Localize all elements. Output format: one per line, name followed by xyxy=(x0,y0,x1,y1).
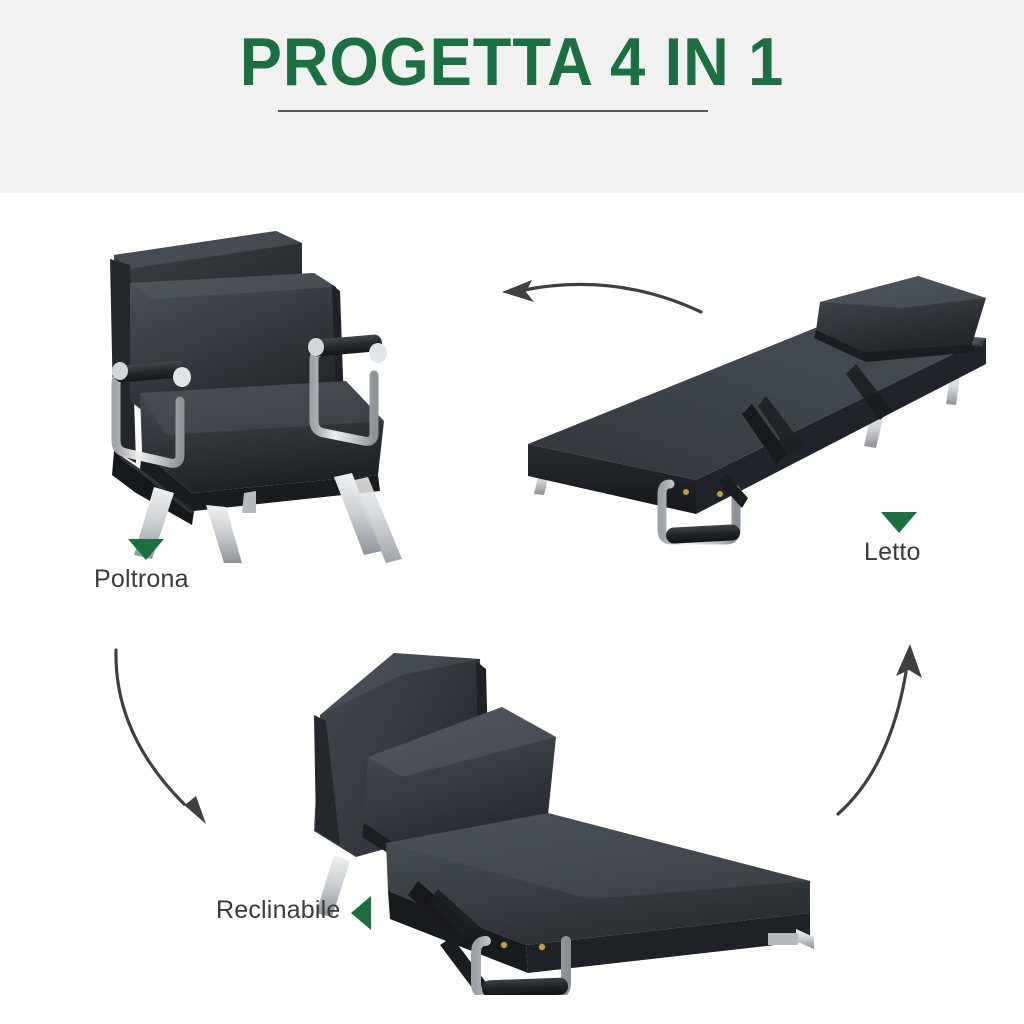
product-image-recliner xyxy=(290,645,840,995)
step-label-poltrona: Poltrona xyxy=(94,565,189,594)
connector-arrow-recliner-to-bed xyxy=(836,618,996,878)
marker-triangle-down-poltrona xyxy=(128,539,164,560)
marker-triangle-left-reclinabile xyxy=(351,896,371,930)
title-divider xyxy=(278,110,708,112)
header-band: PROGETTA 4 IN 1 xyxy=(0,0,1024,193)
page-title: PROGETTA 4 IN 1 xyxy=(36,26,988,98)
marker-triangle-down-letto xyxy=(881,512,917,533)
infographic-canvas: PROGETTA 4 IN 1 xyxy=(0,0,1024,1024)
connector-arrow-bed-to-chair xyxy=(486,268,706,338)
step-label-reclinabile: Reclinabile xyxy=(216,896,341,925)
product-image-armchair xyxy=(96,225,426,565)
connector-arrow-chair-to-recliner xyxy=(92,638,252,838)
step-label-letto: Letto xyxy=(864,538,921,567)
